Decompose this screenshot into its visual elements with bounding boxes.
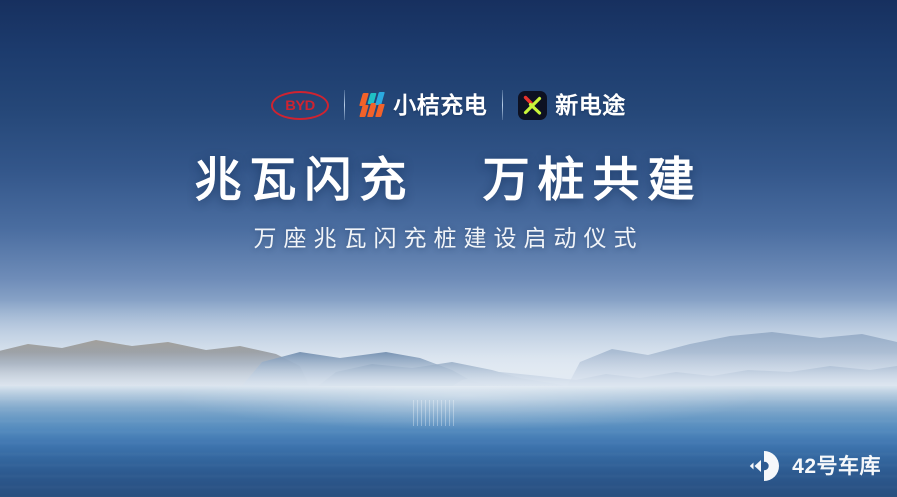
watermark-label: 42号车库: [792, 456, 881, 477]
water-glare: [126, 386, 808, 434]
lightning-bolt-icon: [360, 91, 386, 119]
garage42-logo-icon: [749, 449, 783, 483]
headline-part-2: 万桩共建: [483, 153, 703, 206]
watermark: 42号车库: [749, 449, 881, 483]
xindiantu-wordmark: 新电途: [555, 94, 626, 117]
x-mark-icon: [518, 91, 547, 120]
partner-logo-bar: BYD 小桔充电 新电途: [0, 84, 897, 126]
logo-xiaoju: 小桔充电: [345, 84, 502, 126]
byd-oval-icon: BYD: [271, 91, 329, 120]
poster-headline: 兆瓦闪充 万桩共建: [0, 152, 897, 207]
logo-byd: BYD: [256, 84, 344, 126]
poster-canvas: BYD 小桔充电 新电途: [0, 0, 897, 497]
byd-wordmark: BYD: [286, 98, 315, 112]
xiaoju-wordmark: 小桔充电: [393, 94, 487, 117]
logo-xindiantu: 新电途: [503, 84, 641, 126]
poster-subheadline: 万座兆瓦闪充桩建设启动仪式: [0, 225, 897, 253]
water-reflection: [413, 400, 457, 426]
headline-part-1: 兆瓦闪充: [194, 153, 414, 206]
